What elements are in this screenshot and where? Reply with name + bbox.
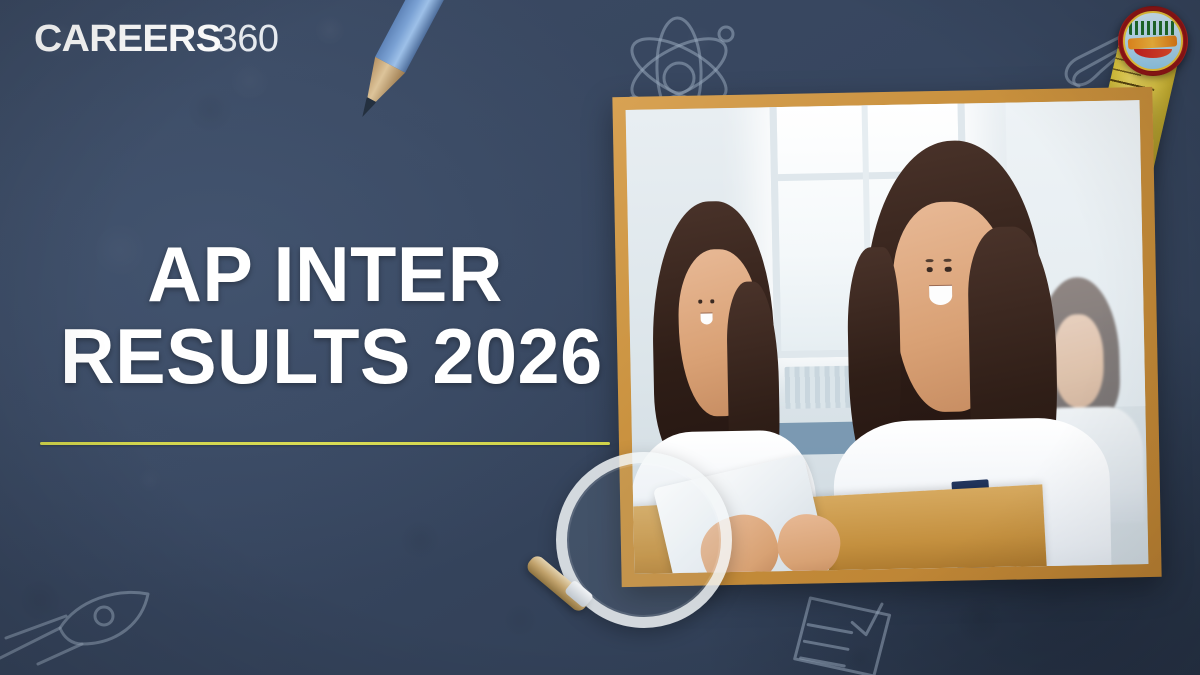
title-underline-rule	[40, 442, 610, 445]
logo-brand-primary: CAREERS	[34, 18, 221, 61]
main-student-smile	[929, 286, 952, 305]
careers360-logo[interactable]: CAREERS 360	[34, 18, 279, 61]
left-student-eye-left	[698, 300, 702, 304]
banner-root: CAREERS 360 AP INTER RESULTS 2026	[0, 0, 1200, 675]
left-student-smile	[700, 313, 713, 325]
main-student-brow-right	[944, 258, 952, 261]
main-student-brow-left	[925, 259, 933, 262]
pencil-body	[375, 0, 481, 73]
checklist-doodle-icon	[782, 588, 952, 675]
page-title-line-2: RESULTS 2026	[60, 318, 603, 394]
emblem-outer-ring	[1119, 7, 1187, 75]
page-title-line-1: AP INTER	[60, 236, 603, 312]
rocket-doodle-icon	[0, 572, 176, 668]
main-student-eye-right	[945, 267, 951, 272]
logo-brand-secondary: 360	[217, 18, 279, 61]
board-emblem-icon	[1118, 6, 1188, 76]
pencil-graphic	[348, 0, 481, 123]
main-student-eye-left	[926, 267, 932, 272]
left-student-eye-right	[710, 299, 714, 303]
page-title: AP INTER RESULTS 2026	[60, 236, 620, 395]
magnifier-graphic	[556, 452, 732, 628]
